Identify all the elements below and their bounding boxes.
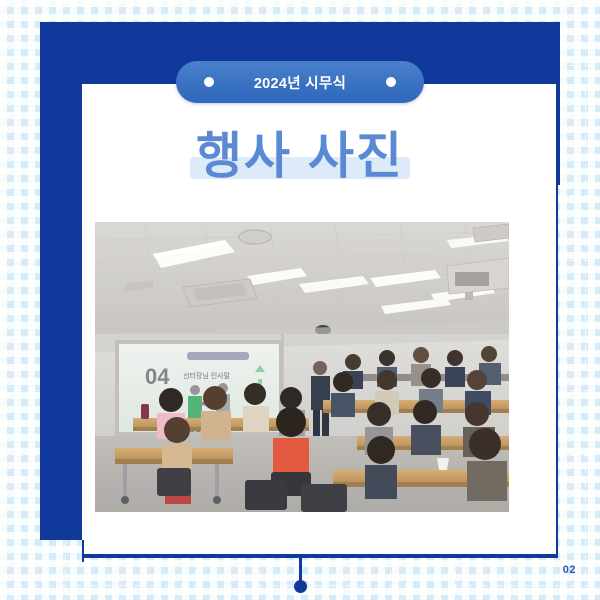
section-badge-label: 2024년 시무식 [254, 72, 346, 93]
section-badge[interactable]: 2024년 시무식 [176, 61, 424, 103]
page-title: 행사 사진 [196, 128, 404, 184]
bottom-pin-dot-icon [294, 580, 307, 593]
frame-bar-left [40, 22, 82, 540]
event-photo: 04 선터장님 인사말 [95, 222, 509, 512]
page-number: 02 [563, 564, 576, 576]
card-left-edge-accent [82, 540, 84, 562]
page-title-inner: 행사 사진 [196, 130, 404, 183]
badge-dot-right-icon [386, 77, 396, 87]
page-title-wrapper: 행사 사진 [0, 130, 600, 183]
presentation-slide: 2024년 시무식 행사 사진 [0, 0, 600, 600]
event-photo-illustration: 04 선터장님 인사말 [95, 222, 509, 512]
badge-dot-left-icon [204, 77, 214, 87]
